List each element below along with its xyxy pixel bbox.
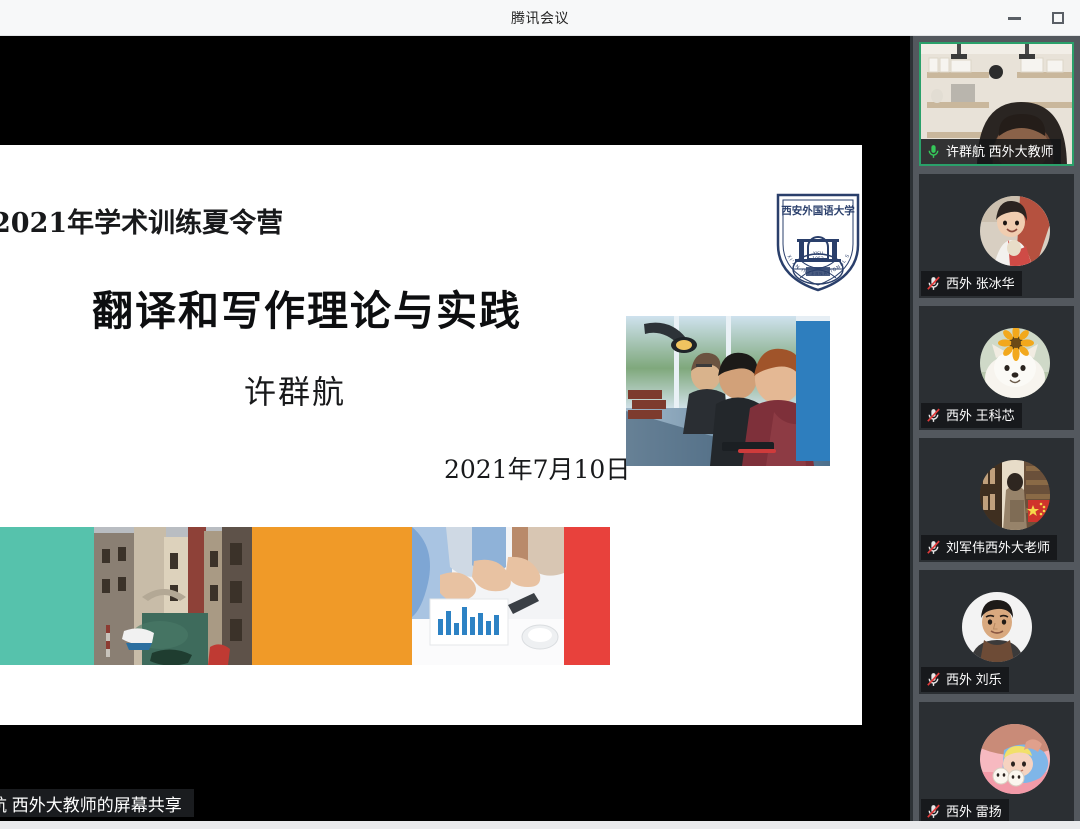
- collage-red-block: [564, 527, 610, 665]
- team-meeting-image: [412, 527, 564, 665]
- participant-tile[interactable]: 西外 雷扬: [919, 702, 1074, 826]
- minimize-icon: [1008, 17, 1021, 20]
- mic-off-icon: [925, 539, 942, 556]
- avatar-image: [980, 460, 1050, 530]
- colorbar-bottom-red: [182, 711, 430, 725]
- colorbar-teal: [430, 145, 678, 159]
- mic-off-icon: [925, 275, 942, 292]
- window-controls: [992, 0, 1080, 36]
- participant-name: 西外 王科芯: [946, 409, 1015, 422]
- participant-tile[interactable]: 西外 王科芯: [919, 306, 1074, 430]
- presentation-slide: 2021年学术训练夏令营 翻译和写作理论与实践 许群航 2021年7月10日 西…: [0, 145, 862, 725]
- mic-off-icon: [925, 803, 942, 820]
- slide-author: 许群航: [244, 367, 346, 413]
- collage-meeting-photo: [412, 527, 564, 665]
- avatar-image: [980, 328, 1050, 398]
- venice-canal-image: [94, 527, 252, 665]
- minimize-button[interactable]: [992, 0, 1036, 36]
- participant-tile[interactable]: 西外 刘乐: [919, 570, 1074, 694]
- colorbar-bottom-orange: [0, 711, 182, 725]
- participant-sidebar[interactable]: 许群航 西外大教师: [913, 36, 1080, 829]
- avatar: [980, 724, 1050, 794]
- screen-share-owner-label: 航 西外大教师的屏幕共享: [0, 789, 194, 817]
- mic-on-icon: [925, 143, 942, 160]
- slide-photo-collage: [0, 527, 610, 665]
- svg-text:西安外国语大学: 西安外国语大学: [781, 204, 855, 217]
- share-surface: 2021年学术训练夏令营 翻译和写作理论与实践 许群航 2021年7月10日 西…: [0, 36, 910, 829]
- collage-venice-photo: [94, 527, 252, 665]
- colorbar-red: [182, 145, 430, 159]
- slide-kicker: 2021年学术训练夏令营: [0, 201, 283, 240]
- slide-date: 2021年7月10日: [444, 450, 630, 486]
- slide-top-colorbar: [0, 145, 862, 159]
- avatar-image: [962, 592, 1032, 662]
- avatar: [980, 196, 1050, 266]
- collage-orange-block: [252, 527, 412, 665]
- participant-name: 许群航 西外大教师: [946, 145, 1054, 158]
- colorbar-bottom-blue: [678, 711, 862, 725]
- participant-name: 西外 雷扬: [946, 805, 1002, 818]
- window-bottom-strip: [0, 821, 1080, 829]
- avatar: [980, 328, 1050, 398]
- avatar: [962, 592, 1032, 662]
- colorbar-orange: [0, 145, 182, 159]
- avatar-image: [980, 724, 1050, 794]
- classroom-photo: [626, 316, 830, 466]
- colorbar-bottom-teal: [430, 711, 678, 725]
- participant-name: 西外 张冰华: [946, 277, 1015, 290]
- participant-name-chip: 刘军伟西外大老师: [921, 535, 1057, 560]
- participant-tile[interactable]: 刘军伟西外大老师: [919, 438, 1074, 562]
- mic-off-icon: [925, 671, 942, 688]
- window-title: 腾讯会议: [511, 8, 569, 28]
- maximize-icon: [1052, 12, 1064, 24]
- window-titlebar: 腾讯会议: [0, 0, 1080, 36]
- university-shield-icon: 西安外国语大学 XISU 1952 XI'AN IN: [770, 181, 862, 293]
- participant-name: 西外 刘乐: [946, 673, 1002, 686]
- slide-title: 翻译和写作理论与实践: [92, 277, 522, 337]
- shared-screen-stage[interactable]: 2021年学术训练夏令营 翻译和写作理论与实践 许群航 2021年7月10日 西…: [0, 36, 913, 829]
- collage-teal-block: [0, 527, 94, 665]
- avatar-image: [980, 196, 1050, 266]
- logo-year: 1952: [812, 256, 824, 262]
- participant-tile[interactable]: 许群航 西外大教师: [919, 42, 1074, 166]
- participant-name-chip: 西外 刘乐: [921, 667, 1009, 692]
- participant-name-chip: 许群航 西外大教师: [921, 139, 1061, 164]
- participant-name-chip: 西外 张冰华: [921, 271, 1022, 296]
- maximize-button[interactable]: [1036, 0, 1080, 36]
- colorbar-blue: [678, 145, 862, 159]
- mic-off-icon: [925, 407, 942, 424]
- slide-bottom-colorbar: [0, 711, 862, 725]
- avatar: [980, 460, 1050, 530]
- university-logo: 西安外国语大学 XISU 1952 XI'AN IN: [770, 181, 862, 293]
- photo-blue-accent: [796, 321, 830, 461]
- participant-tile[interactable]: 西外 张冰华: [919, 174, 1074, 298]
- participant-name: 刘军伟西外大老师: [946, 541, 1050, 554]
- participant-name-chip: 西外 王科芯: [921, 403, 1022, 428]
